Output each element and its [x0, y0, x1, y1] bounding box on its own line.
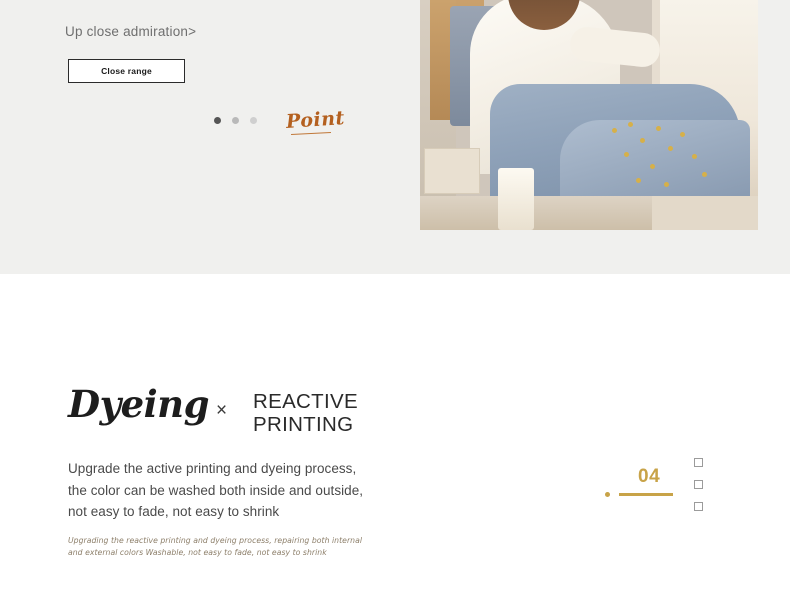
photo-side-box: [424, 148, 480, 194]
step-number-block: 04: [605, 466, 685, 506]
marker-squares: [694, 458, 703, 524]
feature-description-line2: the color can be washed both inside and …: [68, 480, 363, 502]
step-progress-dot: [605, 492, 610, 497]
marker-square-2: [694, 480, 703, 489]
photo-candle: [498, 168, 534, 230]
close-range-button[interactable]: Close range: [68, 59, 185, 83]
step-progress-bar: [619, 493, 673, 496]
feature-description-line3: not easy to fade, not easy to shrink: [68, 501, 363, 523]
carousel-dot-3[interactable]: [250, 117, 257, 124]
dyeing-feature-section: Dyeing × REACTIVE PRINTING Upgrade the a…: [0, 274, 790, 592]
carousel-dot-1[interactable]: [214, 117, 221, 124]
cross-icon: ×: [216, 400, 227, 422]
bedroom-photo: [420, 0, 758, 230]
dyeing-heading: Dyeing: [68, 382, 209, 426]
carousel-dots[interactable]: [214, 117, 257, 124]
photo-floor: [420, 196, 660, 230]
admiration-label: Up close admiration>: [65, 24, 196, 39]
marker-square-1: [694, 458, 703, 467]
reactive-printing-heading: REACTIVE PRINTING: [253, 390, 358, 436]
point-script-label: Point: [285, 107, 345, 133]
reactive-printing-line2: PRINTING: [253, 413, 358, 436]
feature-description: Upgrade the active printing and dyeing p…: [68, 458, 363, 523]
marker-square-3: [694, 502, 703, 511]
top-promo-section: Up close admiration> Close range Point: [0, 0, 790, 274]
photo-flowers: [606, 120, 716, 190]
step-number-label: 04: [638, 466, 660, 488]
top-left-panel: Up close admiration> Close range Point: [0, 0, 420, 274]
reactive-printing-line1: REACTIVE: [253, 390, 358, 413]
feature-description-line1: Upgrade the active printing and dyeing p…: [68, 458, 363, 480]
feature-subtext-line1: Upgrading the reactive printing and dyei…: [68, 535, 362, 547]
point-underline: [291, 132, 331, 135]
feature-subtext-line2: and external colors Washable, not easy t…: [68, 547, 362, 559]
photo-window-sill: [652, 196, 758, 230]
feature-subtext: Upgrading the reactive printing and dyei…: [68, 535, 362, 558]
carousel-dot-2[interactable]: [232, 117, 239, 124]
close-range-button-label: Close range: [101, 66, 152, 76]
